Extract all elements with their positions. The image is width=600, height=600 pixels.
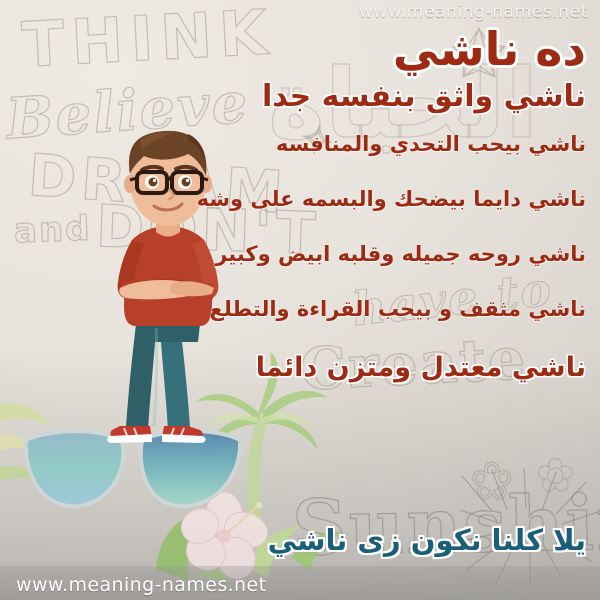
trait-line-4: ناشي مثقف و بيحب القراءة والتطلع [26,299,586,320]
page-subtitle: ناشي واثق بنفسه جدا [26,82,586,112]
watermark-bottom: www.meaning-names.net [16,574,266,596]
flower-icon: ❀ [470,452,516,512]
trait-line-5: ناشي معتدل ومتزن دائما [26,354,586,381]
page-title: ده ناشي [26,26,586,72]
footer-call-to-action: يلا كلنا نكون زى ناشي [26,526,586,555]
flower-outline-icon: ✿ [536,448,577,502]
watermark-top: www.meaning-names.net [359,2,588,22]
trait-line-2: ناشي دايما بيضحك والبسمه على وشه [26,189,586,210]
trait-line-1: ناشي بيحب التحدي والمنافسه [26,134,586,155]
sneakers [107,426,205,443]
name-meaning-card: THINK Believe DREAM and DON'T have to Cr… [0,0,600,600]
text-column: ده ناشي ناشي واثق بنفسه جدا ناشي بيحب ال… [26,26,586,381]
aviator-sunglasses-illustration [18,418,250,530]
trait-line-3: ناشي روحه جميله وقلبه ابيض وكبير [26,244,586,265]
